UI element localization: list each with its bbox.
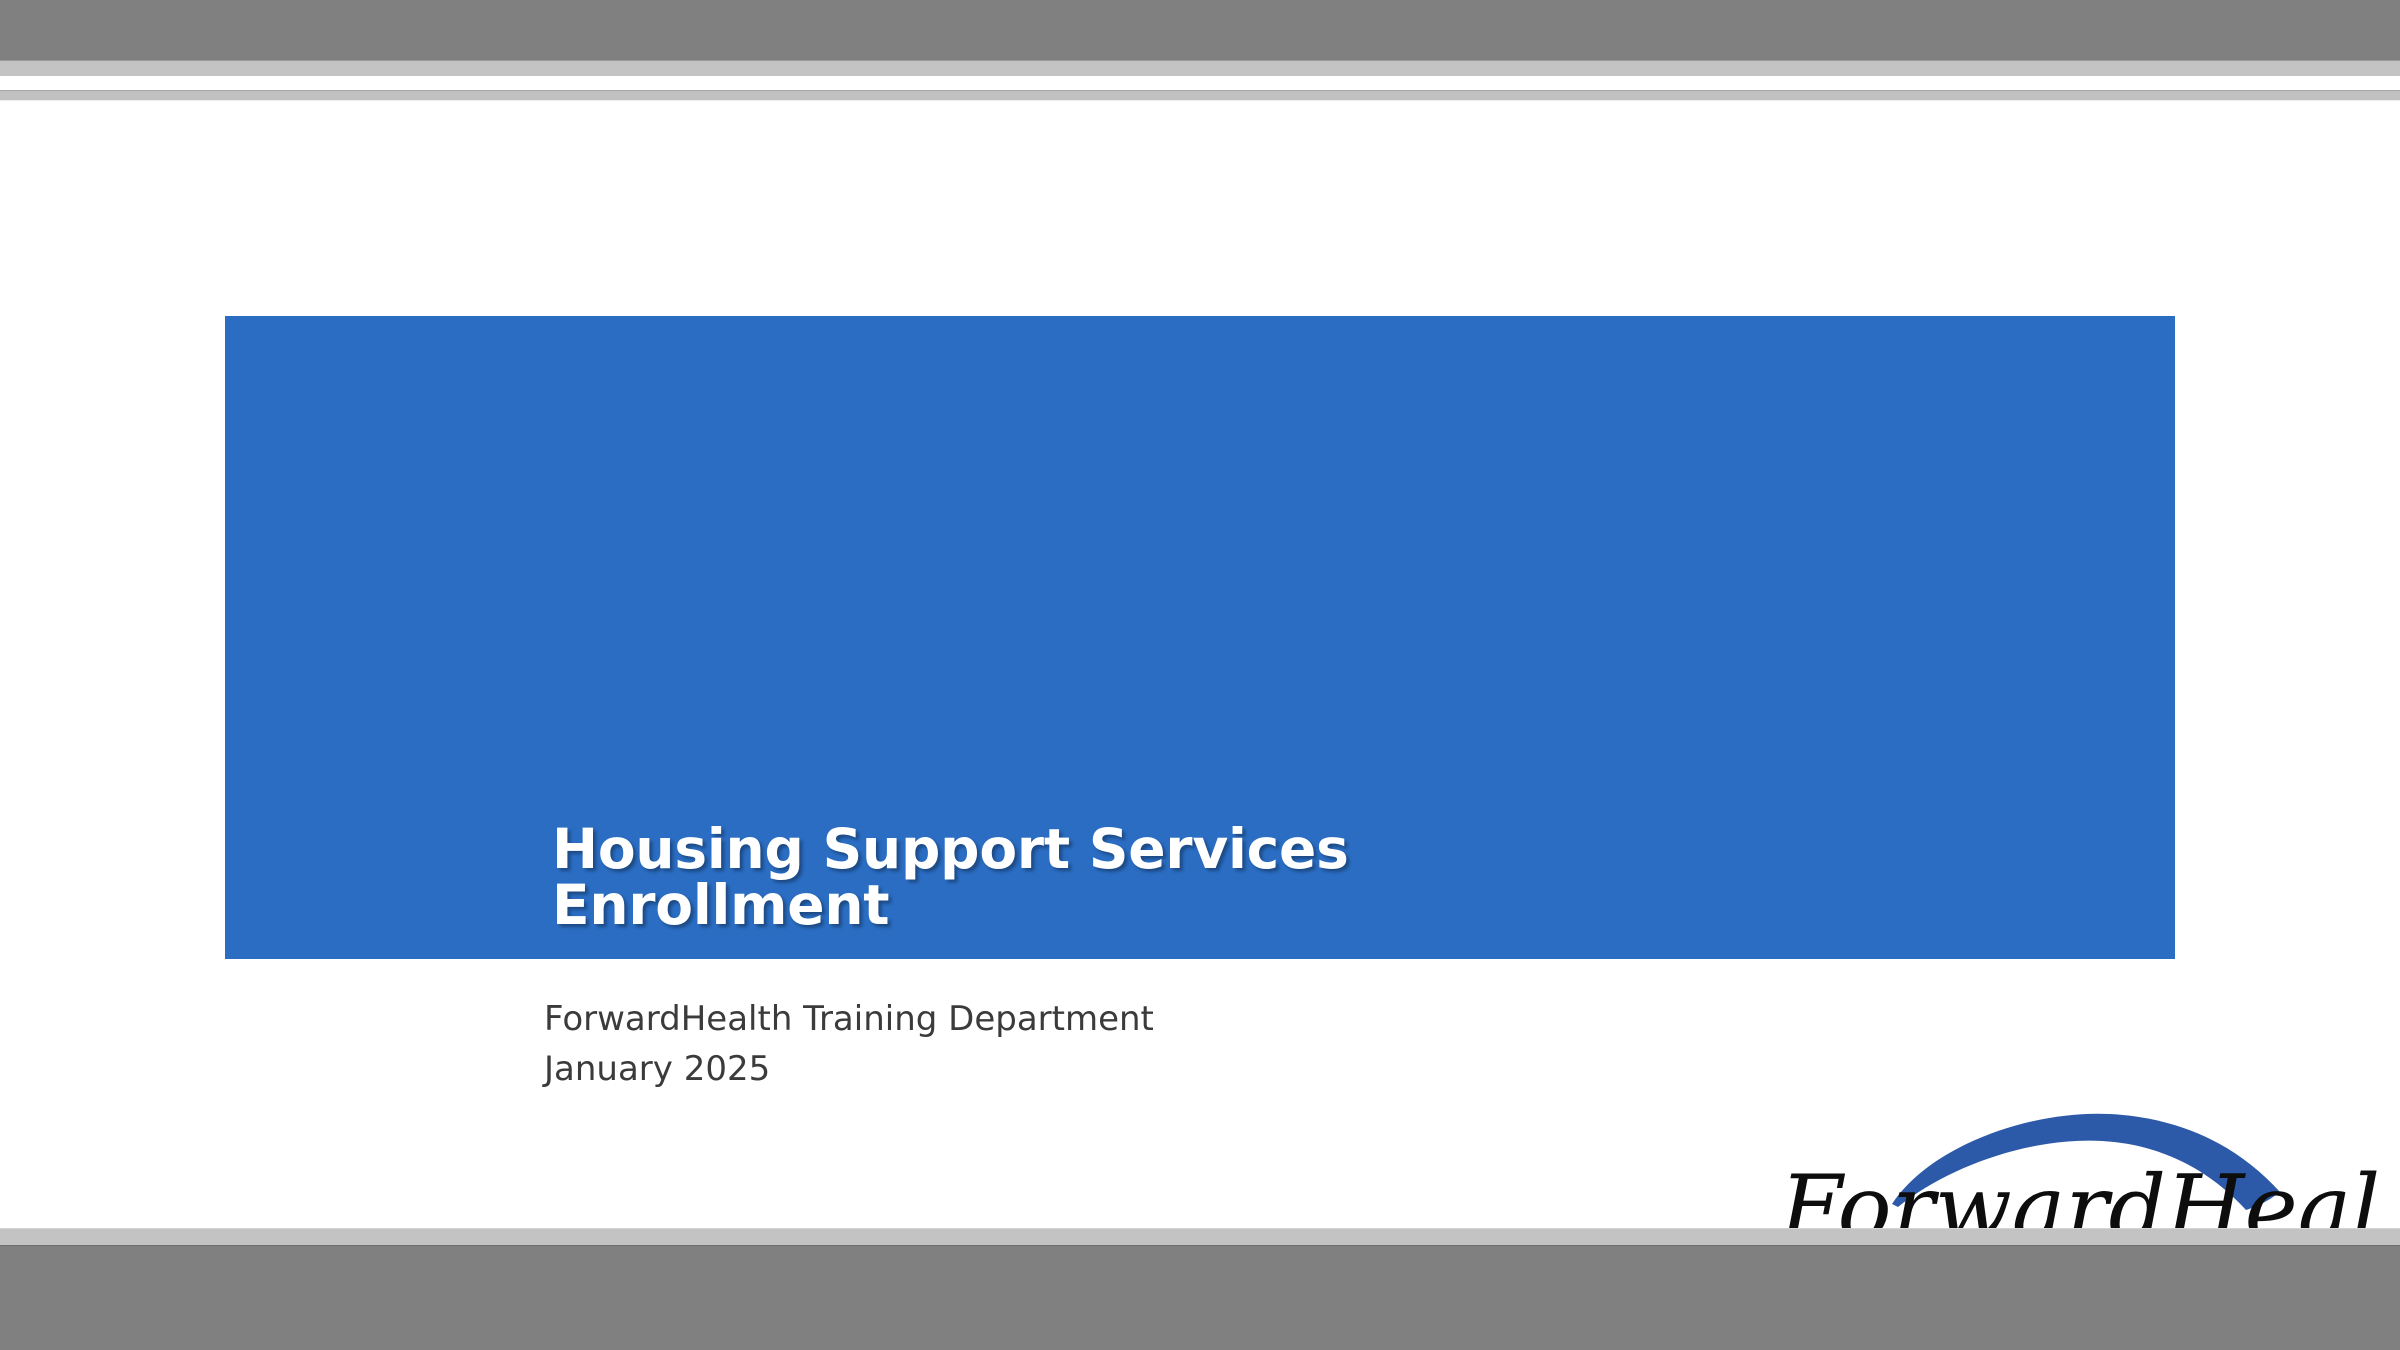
viewer-top-divider-upper (0, 60, 2400, 76)
subtitle-line-department: ForwardHealth Training Department (544, 999, 1644, 1041)
logo-wordmark: ForwardHealth (1780, 1156, 2380, 1228)
viewer-bottom-toolbar-area (0, 1245, 2400, 1350)
slide-canvas: Housing Support Services Enrollment Forw… (0, 101, 2400, 1228)
slide-subtitle: ForwardHealth Training Department Januar… (544, 999, 1644, 1099)
viewer-top-toolbar-area (0, 0, 2400, 60)
presentation-viewer: Housing Support Services Enrollment Forw… (0, 0, 2400, 1350)
forwardhealth-logo-graphic: ForwardHealth Wisconsin serving you (1780, 1106, 2380, 1228)
viewer-top-gap (0, 76, 2400, 90)
slide-title-block: Housing Support Services Enrollment (225, 316, 2175, 959)
forwardhealth-logo: ForwardHealth Wisconsin serving you (1780, 1106, 2380, 1228)
page-title: Housing Support Services Enrollment (552, 821, 1652, 933)
subtitle-line-date: January 2025 (544, 1049, 1644, 1091)
viewer-top-divider-lower (0, 90, 2400, 101)
viewer-bottom-divider (0, 1228, 2400, 1245)
